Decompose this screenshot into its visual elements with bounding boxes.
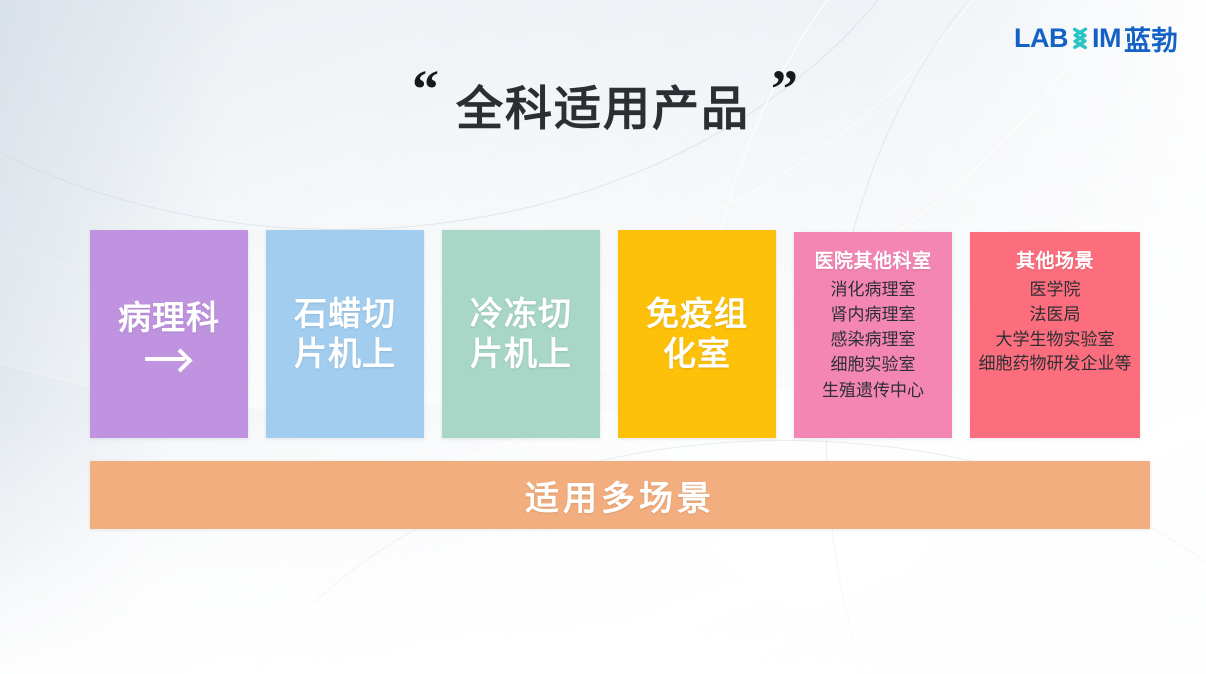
- list-item: 细胞药物研发企业等: [979, 353, 1132, 375]
- scenario-card-item-list: 医学院法医局大学生物实验室细胞药物研发企业等: [979, 278, 1132, 375]
- logo-text-right: IM: [1092, 23, 1121, 54]
- list-item: 大学生物实验室: [996, 328, 1115, 352]
- s-mark-icon: [1067, 25, 1093, 52]
- page-title: 全科适用产品: [456, 84, 750, 135]
- logo-wordmark: LAB IM: [1014, 23, 1121, 54]
- scenario-card-item-list: 消化病理室肾内病理室感染病理室细胞实验室生殖遗传中心: [822, 278, 924, 403]
- scenario-card-immunohistochemistry-room[interactable]: 免疫组 化室: [618, 230, 776, 438]
- scenario-card-title: 石蜡切 片机上: [294, 294, 396, 375]
- slide-root: LAB IM 蓝勃 “ ” 全科适用产品 病理科石蜡切 片机上冷冻切 片机上免疫…: [0, 0, 1206, 674]
- scenario-card-title: 其他场景: [1016, 246, 1094, 273]
- list-item: 细胞实验室: [831, 353, 916, 377]
- scenario-card-paraffin-microtome[interactable]: 石蜡切 片机上: [266, 230, 424, 438]
- brand-logo: LAB IM 蓝勃: [1014, 22, 1178, 54]
- scenario-card-title: 冷冻切 片机上: [470, 294, 572, 375]
- list-item: 肾内病理室: [831, 303, 916, 327]
- scenario-card-frozen-microtome[interactable]: 冷冻切 片机上: [442, 230, 600, 438]
- list-item: 法医局: [1030, 303, 1081, 327]
- list-item: 生殖遗传中心: [822, 379, 924, 403]
- logo-text-left: LAB: [1014, 23, 1068, 54]
- scenario-card-title: 免疫组 化室: [646, 294, 748, 375]
- logo-text-chinese: 蓝勃: [1124, 19, 1178, 58]
- list-item: 医学院: [1030, 278, 1081, 302]
- quote-open-icon: “: [412, 62, 439, 116]
- arrow-right-icon: [145, 348, 193, 370]
- scenario-card-hospital-other-departments[interactable]: 医院其他科室消化病理室肾内病理室感染病理室细胞实验室生殖遗传中心: [794, 232, 952, 438]
- background-sheen: [0, 414, 1206, 674]
- heading-inner: “ ” 全科适用产品: [412, 62, 794, 135]
- list-item: 感染病理室: [831, 328, 916, 352]
- scenario-card-pathology-department[interactable]: 病理科: [90, 230, 248, 438]
- list-item: 消化病理室: [831, 278, 916, 302]
- page-heading: “ ” 全科适用产品: [0, 62, 1206, 162]
- quote-close-icon: ”: [771, 62, 798, 116]
- scenario-card-title: 病理科: [118, 298, 220, 338]
- scenario-card-other-scenarios[interactable]: 其他场景医学院法医局大学生物实验室细胞药物研发企业等: [970, 232, 1140, 438]
- summary-banner: 适用多场景: [90, 461, 1150, 529]
- scenario-card-row: 病理科石蜡切 片机上冷冻切 片机上免疫组 化室医院其他科室消化病理室肾内病理室感…: [90, 230, 1150, 442]
- summary-banner-label: 适用多场景: [525, 471, 715, 520]
- scenario-card-title: 医院其他科室: [814, 246, 931, 273]
